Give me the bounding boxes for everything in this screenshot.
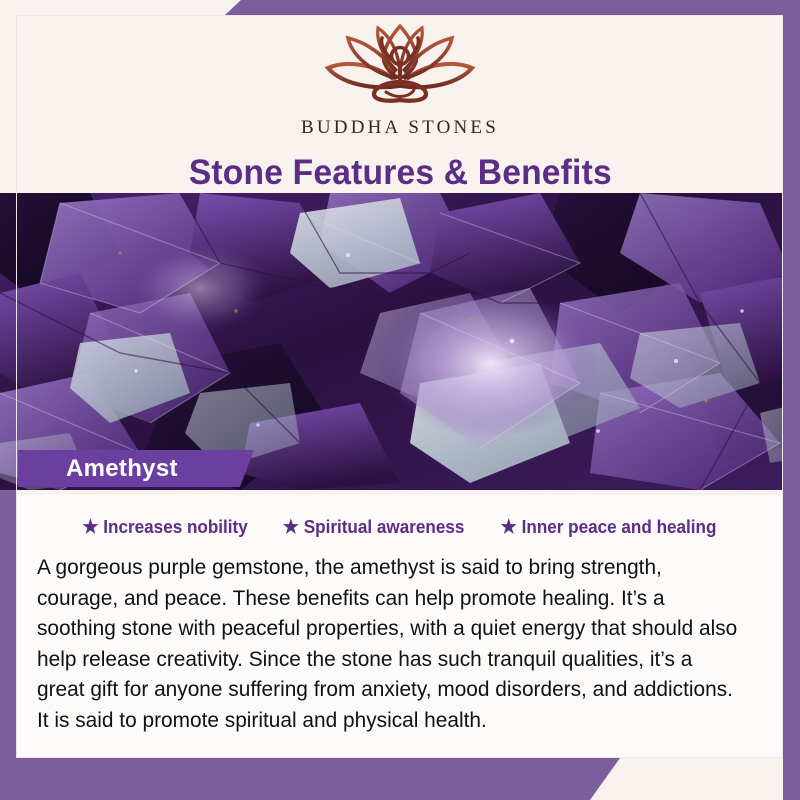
frame-top-band xyxy=(225,0,800,15)
benefit-label: Spiritual awareness xyxy=(304,517,465,538)
header: BUDDHA STONES Stone Features & Benefits xyxy=(0,0,800,193)
lotus-meditation-figure-icon xyxy=(302,22,498,113)
frame-bottom-band xyxy=(0,758,620,800)
star-icon: ★ xyxy=(82,518,98,537)
star-icon: ★ xyxy=(283,518,299,537)
benefit-item-2: ★ Inner peace and healing xyxy=(501,517,717,538)
brand-wordmark: BUDDHA STONES xyxy=(301,117,499,139)
benefit-label: Increases nobility xyxy=(103,517,247,538)
content-panel: ★ Increases nobility ★ Spiritual awarene… xyxy=(17,495,783,758)
frame-left-border xyxy=(0,490,16,800)
page-title: Stone Features & Benefits xyxy=(188,153,611,193)
benefit-item-0: ★ Increases nobility xyxy=(82,517,247,538)
stone-description: A gorgeous purple gemstone, the amethyst… xyxy=(37,552,741,735)
star-icon: ★ xyxy=(501,518,517,537)
benefit-list: ★ Increases nobility ★ Spiritual awarene… xyxy=(37,517,763,538)
benefit-label: Inner peace and healing xyxy=(522,517,717,538)
stone-name-label: Amethyst xyxy=(18,455,178,483)
stone-name-banner: Amethyst xyxy=(18,450,254,487)
benefit-item-1: ★ Spiritual awareness xyxy=(283,517,465,538)
frame-right-border xyxy=(783,0,800,800)
amethyst-crystal-cluster-photo xyxy=(0,193,800,490)
